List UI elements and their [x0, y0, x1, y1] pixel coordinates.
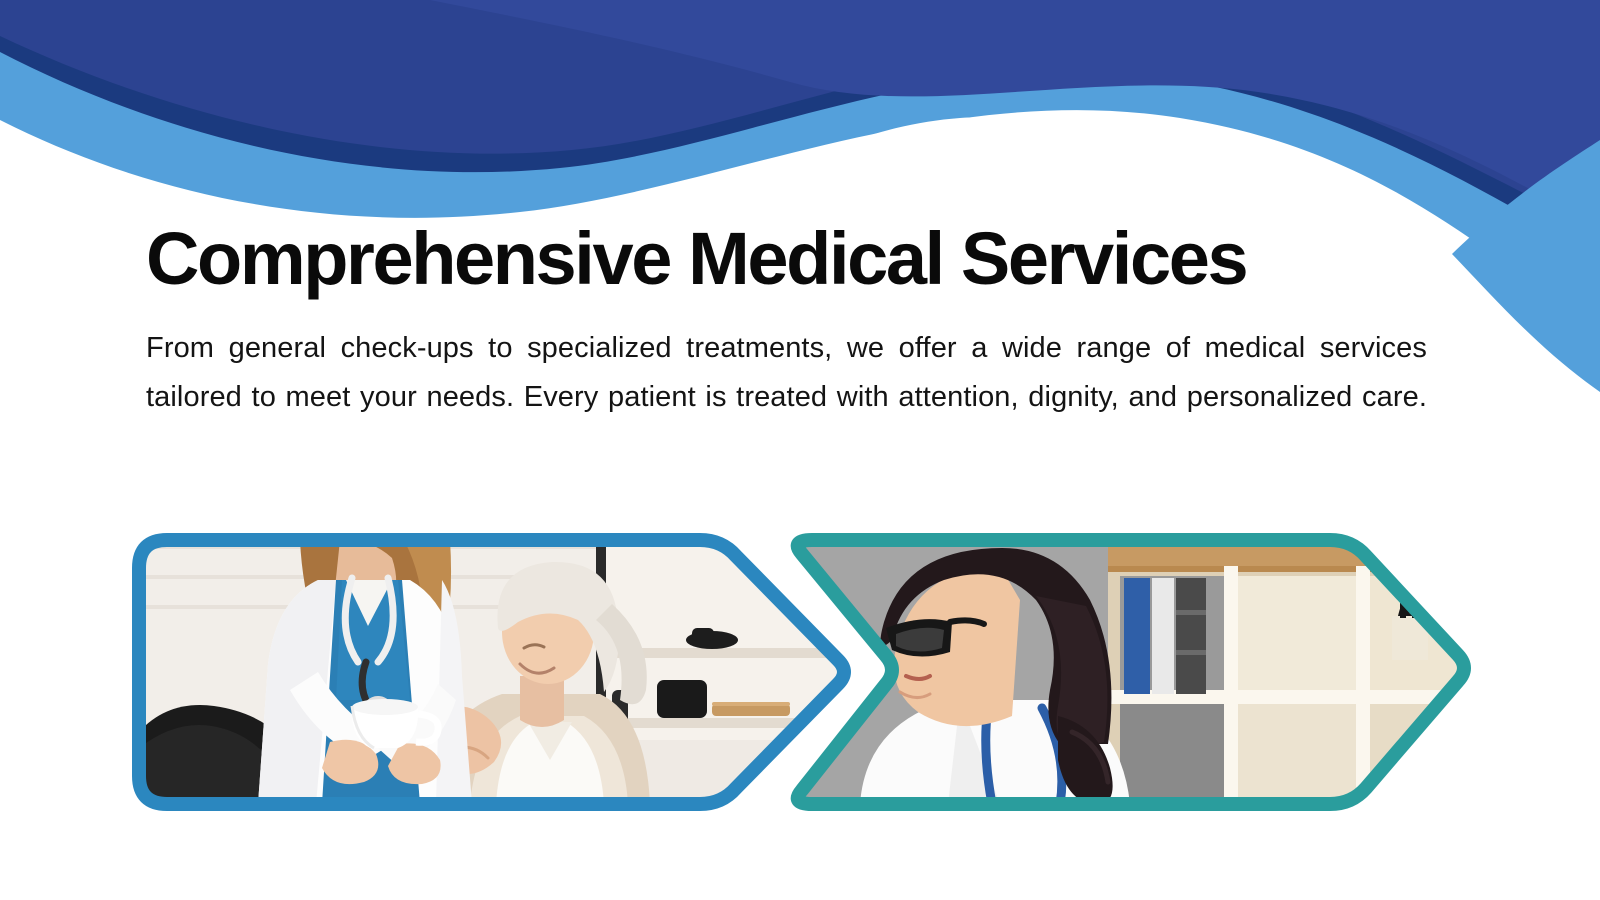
wave-navy-mid-band: [0, 0, 1600, 232]
gallery-card-2-hit-area[interactable]: [775, 538, 1475, 806]
page-subtitle: From general check-ups to specialized tr…: [146, 324, 1427, 471]
wave-navy-light-highlight: [430, 0, 1600, 228]
text-block: Comprehensive Medical Services From gene…: [146, 222, 1426, 471]
wave-sky-right-wedge: [1452, 140, 1600, 392]
page-title: Comprehensive Medical Services: [146, 222, 1426, 296]
slide-canvas: Comprehensive Medical Services From gene…: [0, 0, 1600, 900]
gallery-card-1-hit-area[interactable]: [131, 538, 843, 806]
